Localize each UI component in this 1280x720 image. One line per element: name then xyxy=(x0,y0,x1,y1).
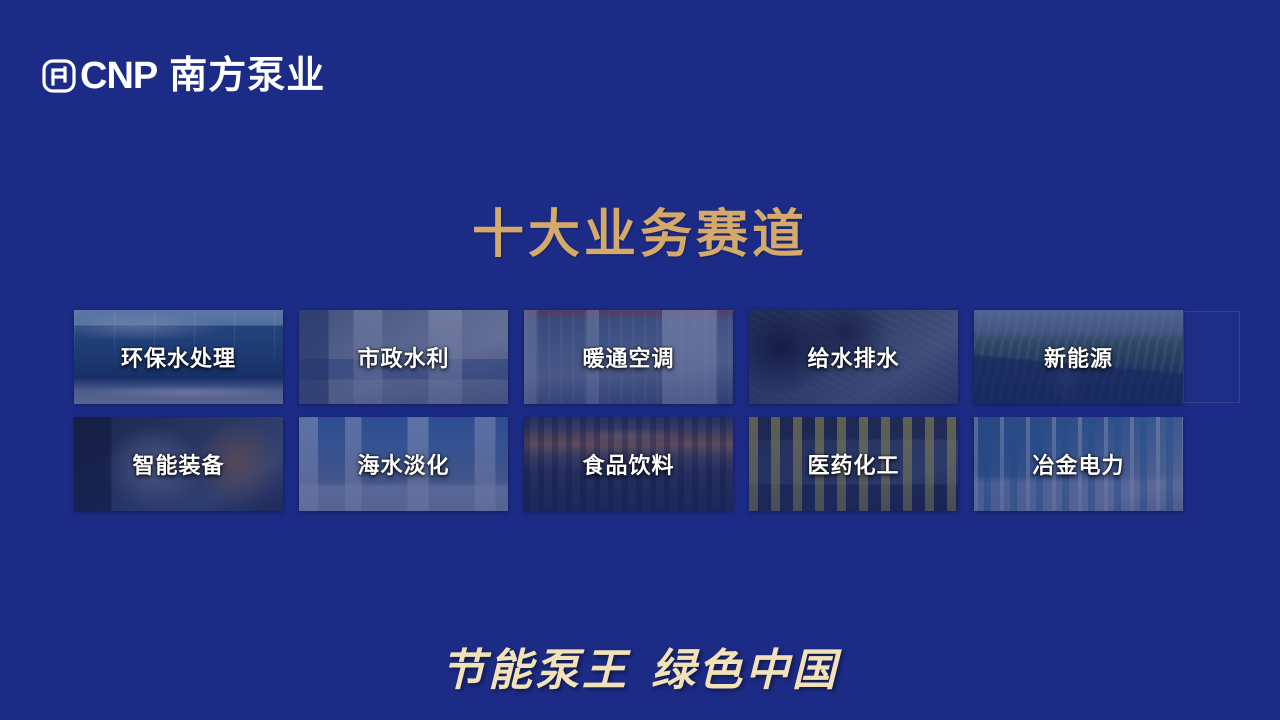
track-card-10[interactable]: 冶金电力 xyxy=(974,417,1183,511)
track-card-label: 海水淡化 xyxy=(357,448,449,480)
cnp-monogram-icon xyxy=(42,59,76,93)
track-card-label: 暖通空调 xyxy=(582,341,674,373)
track-card-label: 医药化工 xyxy=(807,448,899,480)
track-card-label: 智能装备 xyxy=(132,448,224,480)
track-card-8[interactable]: 食品饮料 xyxy=(524,417,733,511)
track-card-7[interactable]: 海水淡化 xyxy=(299,417,508,511)
track-card-3[interactable]: 暖通空调 xyxy=(524,310,733,404)
track-card-label: 食品饮料 xyxy=(582,448,674,480)
business-track-grid: 环保水处理 市政水利 暖通空调 给水排水 新能源 智能装备 xyxy=(74,310,1184,511)
slogan-part-1: 节能泵王 xyxy=(441,645,629,696)
track-card-2[interactable]: 市政水利 xyxy=(299,310,508,404)
track-card-5[interactable]: 新能源 xyxy=(974,310,1183,404)
track-card-6[interactable]: 智能装备 xyxy=(74,417,283,511)
track-card-label: 冶金电力 xyxy=(1032,448,1124,480)
logo-latin-text: CNP xyxy=(80,57,157,95)
track-card-1[interactable]: 环保水处理 xyxy=(74,310,283,404)
logo-chinese-text: 南方泵业 xyxy=(169,57,325,95)
company-logo: CNP 南方泵业 xyxy=(42,52,325,100)
track-card-label: 给水排水 xyxy=(807,341,899,373)
placeholder-outline xyxy=(1183,311,1240,403)
slogan-part-2: 绿色中国 xyxy=(651,645,839,696)
track-card-label: 新能源 xyxy=(1044,341,1113,373)
track-card-9[interactable]: 医药化工 xyxy=(749,417,958,511)
footer-slogan: 节能泵王绿色中国 xyxy=(0,634,1280,698)
track-card-4[interactable]: 给水排水 xyxy=(749,310,958,404)
slide-root: CNP 南方泵业 十大业务赛道 环保水处理 市政水利 暖通空调 给水排水 xyxy=(0,0,1280,720)
page-title: 十大业务赛道 xyxy=(0,206,1280,266)
track-card-label: 环保水处理 xyxy=(121,341,236,373)
track-card-label: 市政水利 xyxy=(357,341,449,373)
